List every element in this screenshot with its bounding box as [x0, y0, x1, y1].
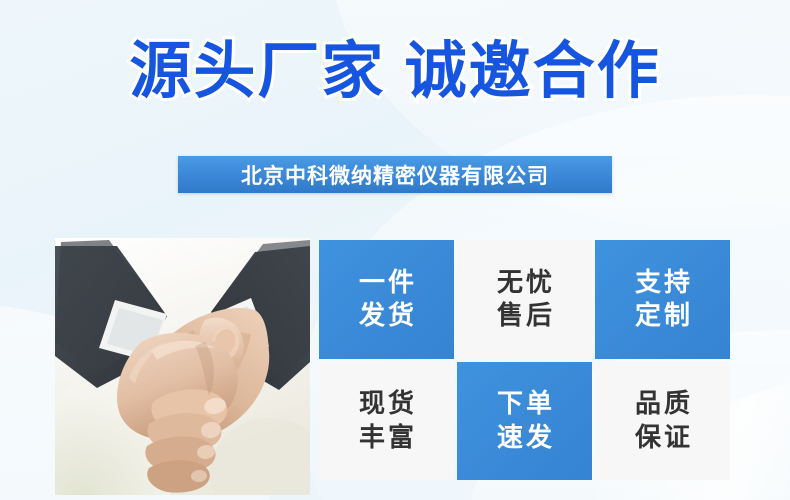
feature-cell-1[interactable]: 一件 发货: [319, 240, 454, 359]
feature-grid: 一件 发货 无忧 售后 支持 定制 现货 丰富 下单 速发 品质 保证: [319, 240, 730, 480]
feature-cell-2[interactable]: 无忧 售后: [457, 240, 592, 359]
feature-cell-6[interactable]: 品质 保证: [595, 362, 730, 481]
feature-cell-3-line2: 定制: [632, 299, 693, 332]
feature-cell-1-line2: 发货: [356, 299, 417, 332]
feature-cell-1-line1: 一件: [356, 266, 417, 299]
feature-cell-6-line1: 品质: [632, 387, 693, 420]
feature-cell-4[interactable]: 现货 丰富: [319, 362, 454, 481]
feature-cell-2-line1: 无忧: [494, 266, 555, 299]
company-name-bar: 北京中科微纳精密仪器有限公司: [178, 156, 612, 193]
company-name-label: 北京中科微纳精密仪器有限公司: [241, 160, 549, 190]
feature-cell-5[interactable]: 下单 速发: [457, 362, 592, 481]
promo-banner: 源头厂家 诚邀合作 北京中科微纳精密仪器有限公司: [0, 0, 790, 500]
background-arc-top: [330, 0, 790, 230]
feature-cell-3-line1: 支持: [632, 266, 693, 299]
feature-cell-5-line2: 速发: [494, 421, 555, 454]
feature-cell-6-line2: 保证: [632, 421, 693, 454]
feature-cell-5-line1: 下单: [494, 387, 555, 420]
handshake-photo: [55, 238, 310, 495]
feature-cell-3[interactable]: 支持 定制: [595, 240, 730, 359]
handshake-illustration: [55, 238, 310, 495]
headline-title: 源头厂家 诚邀合作: [0, 38, 790, 106]
feature-cell-2-line2: 售后: [494, 299, 555, 332]
feature-cell-4-line2: 丰富: [356, 421, 417, 454]
feature-cell-4-line1: 现货: [356, 387, 417, 420]
